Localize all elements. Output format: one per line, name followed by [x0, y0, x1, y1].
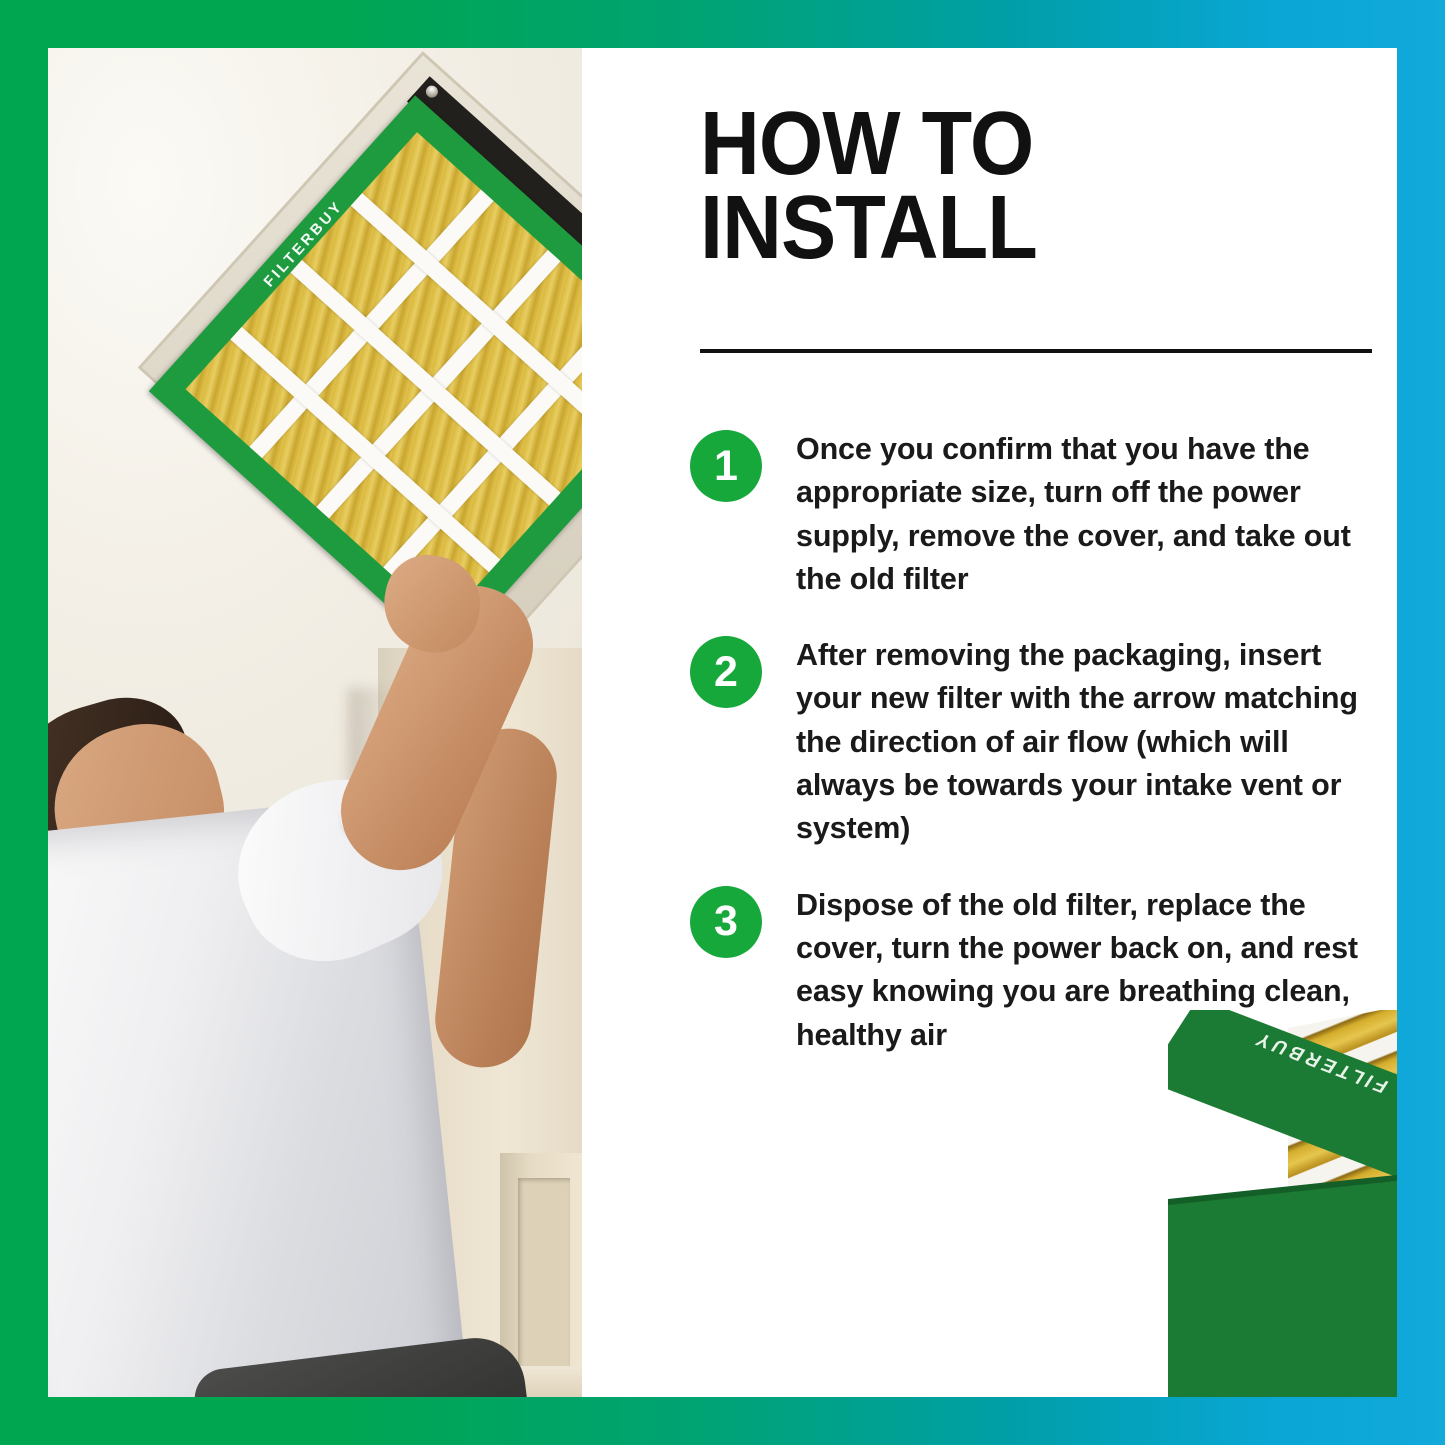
step-item-1: 1 Once you confirm that you have the app… — [690, 428, 1395, 601]
step-text-1: Once you confirm that you have the appro… — [796, 428, 1386, 601]
inner-white-panel: FILTERBUY FILTERBUY HOW TO IN — [48, 48, 1397, 1397]
steps-list: 1 Once you confirm that you have the app… — [690, 428, 1395, 1090]
step-number-badge-2: 2 — [690, 636, 762, 708]
step-number-badge-3: 3 — [690, 886, 762, 958]
page-title-line-2: INSTALL — [700, 187, 1344, 271]
install-photo: FILTERBUY FILTERBUY — [48, 48, 582, 1397]
page-title: HOW TO INSTALL — [700, 103, 1344, 270]
product-filter-photo: FILTERBUY AIR FLOW — [1168, 1010, 1397, 1397]
person-installing-filter — [48, 608, 582, 1397]
content-column: HOW TO INSTALL 1 Once you confirm that y… — [582, 48, 1397, 1397]
product-filter-body: FILTERBUY AIR FLOW — [1168, 1010, 1397, 1397]
step-item-2: 2 After removing the packaging, insert y… — [690, 634, 1395, 850]
page-title-line-1: HOW TO — [700, 103, 1344, 187]
title-divider — [700, 349, 1372, 353]
infographic-canvas: FILTERBUY FILTERBUY HOW TO IN — [0, 0, 1445, 1445]
step-number-badge-1: 1 — [690, 430, 762, 502]
step-text-2: After removing the packaging, insert you… — [796, 634, 1386, 850]
